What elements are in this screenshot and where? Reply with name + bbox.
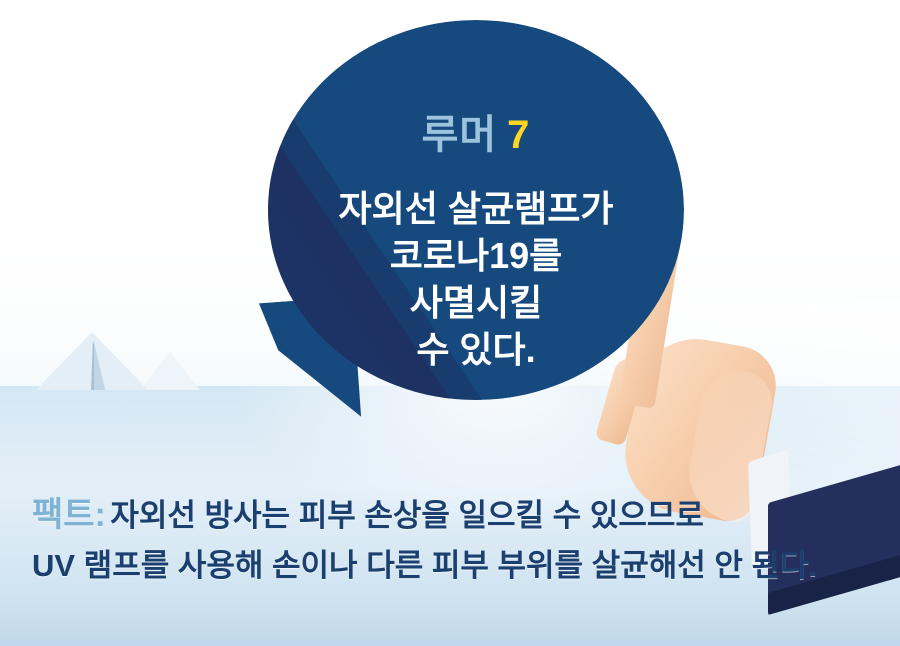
fact-text-1: 자외선 방사는 피부 손상을 일으킬 수 있으므로: [110, 498, 704, 533]
speech-bubble-text: 루머7 자외선 살균램프가 코로나19를 사멸시킬 수 있다.: [268, 20, 684, 400]
fact-text-2: UV 램프를 사용해 손이나 다른 피부 부위를 살균해선 안 된다.: [32, 544, 882, 588]
rumor-claim-text: 자외선 살균램프가 코로나19를 사멸시킬 수 있다.: [260, 185, 692, 373]
claim-line-1: 자외선 살균램프가: [260, 185, 692, 232]
claim-line-2: 코로나19를: [260, 232, 692, 279]
fact-line-1: 팩트: 자외선 방사는 피부 손상을 일으킬 수 있으므로: [32, 493, 882, 544]
rumor-number: 7: [507, 113, 530, 157]
rumor-label: 루머: [422, 113, 498, 157]
rumor-heading: 루머7: [268, 115, 684, 155]
claim-line-4: 수 있다.: [260, 326, 692, 373]
poster-canvas: 루머7 자외선 살균램프가 코로나19를 사멸시킬 수 있다. 팩트: 자외선 …: [0, 0, 900, 646]
claim-line-3: 사멸시킬: [260, 279, 692, 326]
fact-label: 팩트:: [32, 496, 106, 534]
fact-block: 팩트: 자외선 방사는 피부 손상을 일으킬 수 있으므로 UV 램프를 사용해…: [32, 493, 882, 588]
